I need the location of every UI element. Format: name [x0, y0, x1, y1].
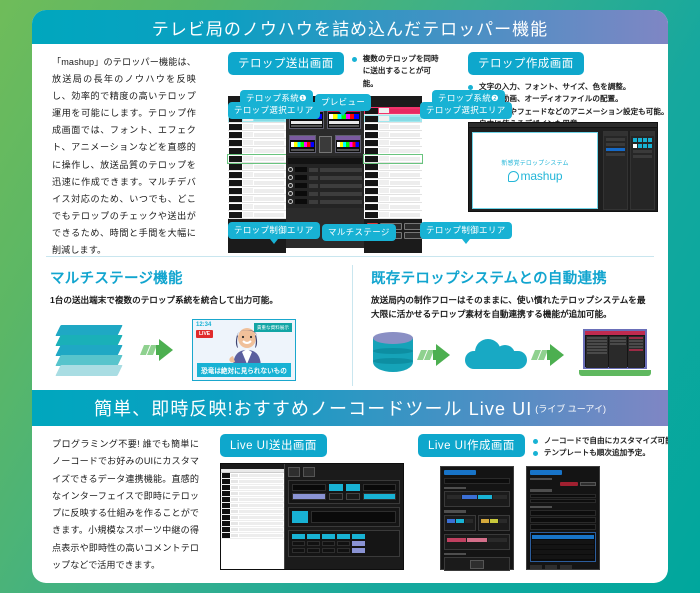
table-row[interactable]: [364, 179, 422, 187]
section3-banner: 簡単、即時反映!おすすめノーコードツール Live UI(ライブ ユーアイ): [32, 390, 668, 426]
callout-label-preview: プレビュー: [315, 94, 371, 111]
grid-button[interactable]: [307, 534, 320, 539]
callout-label: テロップ制御エリア: [228, 222, 320, 239]
feature-desc: 1台の送出端末で複数のテロップ系統を統合して出力可能。: [50, 293, 338, 307]
properties-panels[interactable]: [601, 128, 657, 213]
color-panel[interactable]: [630, 131, 655, 210]
database-icon: [373, 332, 413, 378]
grid-button[interactable]: [337, 548, 350, 553]
grid-button[interactable]: [307, 548, 320, 553]
layer-stack-graphic: [58, 325, 132, 375]
arrow-right-icon: [419, 342, 459, 368]
telop-make-screen-mock[interactable]: 新感覚テロップシステム mashup: [468, 122, 658, 212]
telop-canvas[interactable]: 新感覚テロップシステム mashup: [472, 132, 598, 209]
section-live-ui: プログラミング不要! 誰でも簡単にノーコードでお好みのUIにカスタマイズできるデ…: [32, 426, 668, 576]
callout-preview: プレビュー: [315, 92, 371, 116]
grid-button[interactable]: [322, 534, 335, 539]
score-display[interactable]: [363, 493, 397, 500]
table-row[interactable]: [364, 131, 422, 139]
liveui-make-bullets: ノーコードで自由にカスタマイズ可能。 テンプレートも順次追加予定。: [533, 434, 668, 460]
callout-select-area-1: テロップ選択エリア: [228, 100, 320, 119]
mashup-wordmark: mashup: [521, 169, 563, 183]
callout-multistage: マルチステージ: [322, 222, 396, 241]
footer-button[interactable]: [530, 565, 542, 569]
liveui-make-pill: Live UI作成画面: [418, 434, 525, 457]
widget-preview[interactable]: [444, 515, 476, 531]
canvas-title-text: 新感覚テロップシステム: [501, 158, 568, 167]
score-stepper[interactable]: [329, 493, 343, 500]
grid-button[interactable]: [292, 548, 305, 553]
tv-live-badge: LIVE: [196, 330, 213, 338]
make-screen-pill: テロップ作成画面: [468, 52, 584, 75]
liveui-make-block: Live UI作成画面 ノーコードで自由にカスタマイズ可能。 テンプレートも順次…: [418, 434, 660, 570]
footer-button[interactable]: [545, 565, 557, 569]
tv-lower-third: 恐竜は絶対に見られないもの: [197, 363, 291, 377]
liveui-send-block: Live UI送出画面: [220, 434, 404, 570]
callout-label: テロップ制御エリア: [420, 222, 512, 239]
laptop-icon: [579, 329, 651, 381]
feature-multistage: マルチステージ機能 1台の送出端末で複数のテロップ系統を統合して出力可能。 12…: [32, 265, 352, 386]
table-row[interactable]: [364, 211, 422, 219]
button-grid[interactable]: [288, 530, 400, 557]
select-area-header-2: [364, 96, 422, 107]
feature-desc: 放送局内の制作フローはそのままに、使い慣れたテロップシステムを最大限に活かせるテ…: [371, 293, 654, 321]
widget-preview[interactable]: [444, 491, 510, 507]
send-screen-caption: テロップ送出画面 複数のテロップを同時に送出することが可能。: [228, 52, 423, 90]
table-row[interactable]: [228, 147, 286, 155]
score-widget-group[interactable]: [288, 480, 400, 504]
table-row[interactable]: [364, 203, 422, 211]
list-item-selected[interactable]: [532, 535, 594, 539]
section1-banner-title: テレビ局のノウハウを詰め込んだテロッパー機能: [152, 15, 548, 40]
telop-list-2[interactable]: [364, 107, 422, 219]
table-row[interactable]: [228, 179, 286, 187]
table-row[interactable]: [228, 131, 286, 139]
callout-select-area-2: テロップ選択エリア: [420, 100, 512, 119]
section-telopper: 「mashup」のテロッパー機能は、放送局の長年のノウハウを反映し、効率的で精度…: [32, 44, 668, 256]
feature-title: 既存テロップシステムとの自動連携: [371, 267, 654, 288]
list-item[interactable]: [288, 190, 362, 197]
layers-panel[interactable]: [603, 131, 628, 210]
team-name-field[interactable]: [363, 484, 397, 491]
grid-button[interactable]: [337, 534, 350, 539]
multistage-list[interactable]: [286, 156, 364, 208]
presenter-illustration: [227, 326, 267, 368]
section-features: マルチステージ機能 1台の送出端末で複数のテロップ系統を統合して出力可能。 12…: [32, 257, 668, 390]
telop-list-1[interactable]: [228, 107, 286, 219]
table-row[interactable]: [228, 171, 286, 179]
table-row[interactable]: [364, 139, 422, 147]
send-screen-note: 複数のテロップを同時に送出することが可能。: [352, 53, 444, 90]
grid-button[interactable]: [322, 548, 335, 553]
cloud-icon: [465, 335, 527, 375]
stepper[interactable]: [329, 484, 343, 491]
message-field[interactable]: [311, 511, 396, 523]
list-item[interactable]: [288, 182, 362, 189]
table-row[interactable]: [364, 187, 422, 195]
widget-preview[interactable]: [444, 557, 510, 571]
list-item[interactable]: [288, 166, 362, 173]
send-screen-notes: 複数のテロップを同時に送出することが可能。: [352, 52, 444, 90]
grid-button[interactable]: [352, 534, 365, 539]
broadcast-preview-image: 12:34 LIVE 貴重な資料展示: [192, 319, 296, 381]
grid-button[interactable]: [322, 541, 335, 546]
arrow-right-icon: [533, 342, 573, 368]
panel-title: [444, 470, 476, 475]
table-row[interactable]: [364, 155, 422, 163]
section3-banner-ruby: (ライブ ユーアイ): [535, 402, 606, 415]
content-card: テレビ局のノウハウを詰め込んだテロッパー機能 「mashup」のテロッパー機能は…: [32, 10, 668, 583]
score-display[interactable]: [292, 493, 326, 500]
mashup-mark-icon: [508, 171, 519, 182]
send-screen-pill: テロップ送出画面: [228, 52, 344, 75]
table-row[interactable]: [364, 147, 422, 155]
liveui-item-list[interactable]: [221, 464, 285, 569]
mashup-logo: mashup: [508, 169, 563, 183]
stepper[interactable]: [346, 484, 360, 491]
list-item[interactable]: [288, 198, 362, 205]
add-button[interactable]: [580, 482, 596, 486]
table-row[interactable]: [228, 187, 286, 195]
callout-control-area-1: テロップ制御エリア: [228, 220, 320, 244]
tool-button[interactable]: [303, 467, 315, 477]
liveui-body-text: プログラミング不要! 誰でも簡単にノーコードでお好みのUIにカスタマイズできるデ…: [52, 436, 199, 574]
tv-clock: 12:34: [196, 322, 211, 328]
grid-button[interactable]: [337, 541, 350, 546]
list-item: テンプレートも順次追加予定。: [533, 447, 668, 459]
list-item[interactable]: [221, 533, 284, 539]
widget-preview[interactable]: [444, 534, 510, 550]
callout-label: マルチステージ: [322, 224, 396, 241]
score-stepper[interactable]: [346, 493, 360, 500]
table-row[interactable]: [364, 115, 422, 123]
toggle[interactable]: [292, 511, 308, 523]
preview-pair-bottom: [286, 132, 364, 156]
arrow-right-icon: [142, 337, 182, 363]
grid-button[interactable]: [307, 541, 320, 546]
table-row[interactable]: [228, 195, 286, 203]
panel-title: [530, 470, 562, 475]
section3-banner-title: 簡単、即時反映!おすすめノーコードツール Live UI: [94, 395, 532, 421]
tool-button[interactable]: [288, 467, 300, 477]
table-row[interactable]: [228, 211, 286, 219]
transition-button[interactable]: [319, 136, 332, 153]
footer-button[interactable]: [560, 565, 572, 569]
callout-label: テロップ選択エリア: [420, 102, 512, 119]
team-name-field[interactable]: [292, 484, 326, 491]
feature-auto-link: 既存テロップシステムとの自動連携 放送局内の制作フローはそのままに、使い慣れたテ…: [353, 265, 668, 386]
list-item: ノーコードで自由にカスタマイズ可能。: [533, 435, 668, 447]
table-row[interactable]: [228, 139, 286, 147]
table-row[interactable]: [364, 107, 422, 115]
liveui-editor-screenshot-2[interactable]: [526, 466, 600, 570]
preview-box[interactable]: [335, 135, 362, 153]
delete-button[interactable]: [560, 482, 578, 486]
multistage-header: [288, 158, 362, 164]
grid-button[interactable]: [292, 534, 305, 539]
table-row[interactable]: [364, 195, 422, 203]
table-row[interactable]: [228, 203, 286, 211]
grid-button[interactable]: [352, 541, 365, 546]
table-row[interactable]: [364, 123, 422, 131]
section1-banner: テレビ局のノウハウを詰め込んだテロッパー機能: [32, 10, 668, 44]
grid-button[interactable]: [352, 548, 365, 553]
table-row[interactable]: [228, 163, 286, 171]
table-row[interactable]: [364, 171, 422, 179]
liveui-send-screenshot[interactable]: [220, 463, 404, 570]
widget-preview[interactable]: [478, 515, 510, 531]
list-item[interactable]: [288, 174, 362, 181]
liveui-canvas[interactable]: [285, 464, 403, 569]
message-widget-group[interactable]: [288, 507, 400, 527]
feature-title: マルチステージ機能: [50, 267, 338, 288]
callout-label: テロップ選択エリア: [228, 102, 320, 119]
table-row[interactable]: [228, 123, 286, 131]
table-row[interactable]: [364, 163, 422, 171]
item-listbox[interactable]: [530, 532, 596, 562]
table-row[interactable]: [228, 155, 286, 163]
grid-button[interactable]: [292, 541, 305, 546]
preview-box[interactable]: [289, 135, 316, 153]
liveui-editor-screenshot-1[interactable]: [440, 466, 514, 570]
liveui-send-pill: Live UI送出画面: [220, 434, 327, 457]
callout-control-area-2: テロップ制御エリア: [420, 220, 512, 244]
telopper-body-text: 「mashup」のテロッパー機能は、放送局の長年のノウハウを反映し、効率的で精度…: [52, 54, 196, 259]
